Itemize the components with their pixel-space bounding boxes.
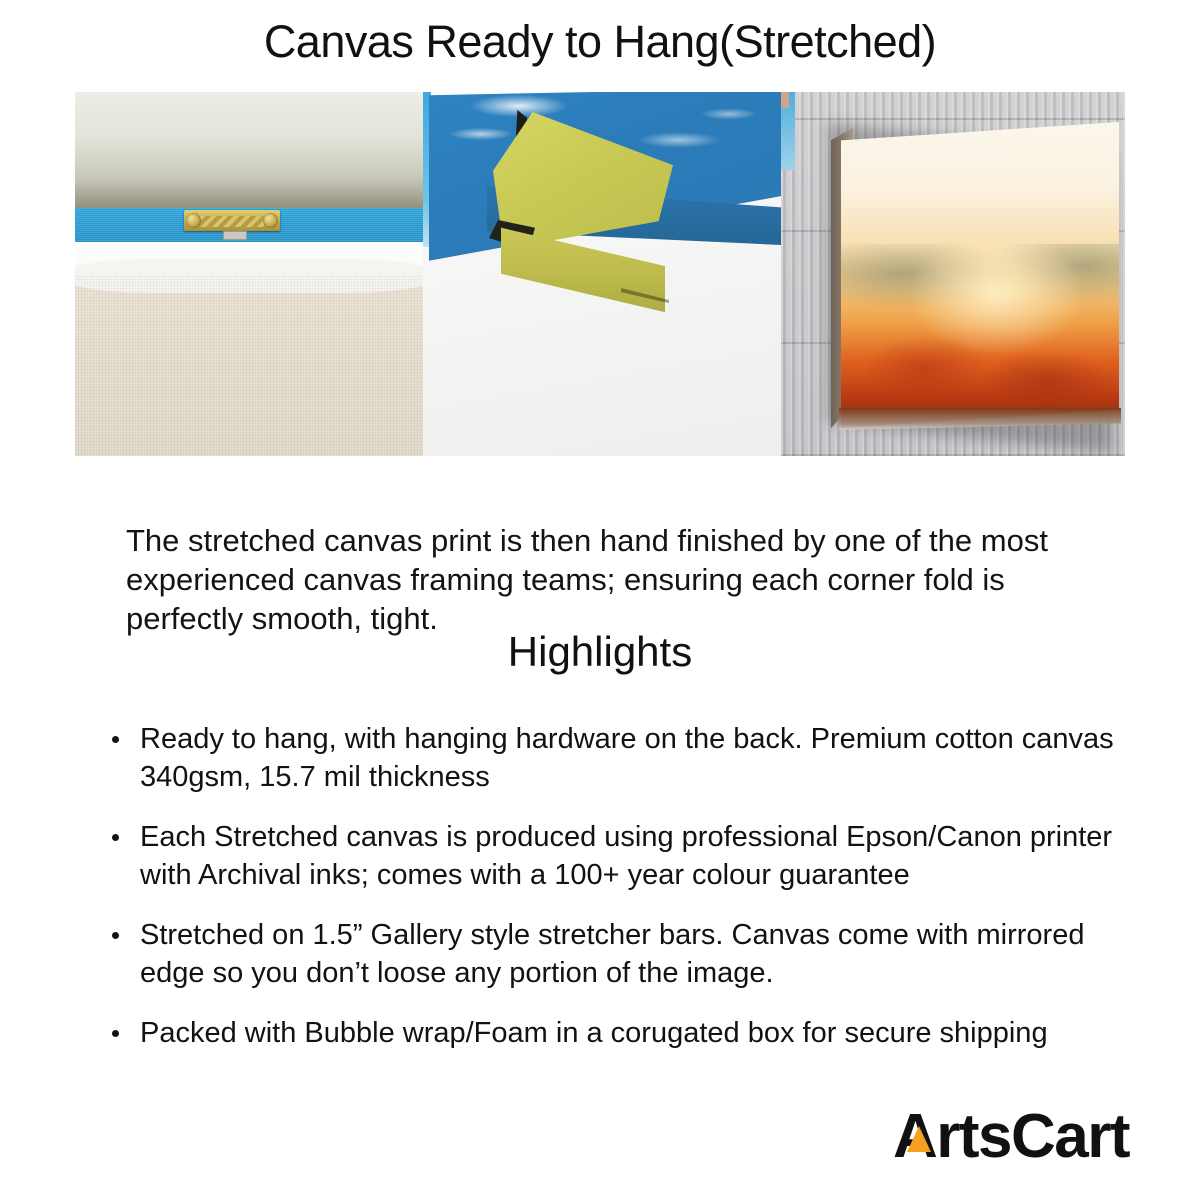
list-item: Each Stretched canvas is produced using …: [108, 818, 1118, 894]
canvas-raw-cotton-surface: [75, 275, 423, 456]
orange-triangle-icon: [907, 1126, 931, 1152]
hanger-teeth: [200, 216, 264, 227]
hung-canvas-sunset-print: [841, 122, 1119, 428]
brand-wordmark: ArtsCart: [893, 1106, 1129, 1168]
highlight-text: Packed with Bubble wrap/Foam in a coruga…: [140, 1017, 1048, 1049]
highlight-text: Stretched on 1.5” Gallery style stretche…: [140, 919, 1084, 989]
hanger-screw-right: [263, 213, 278, 228]
highlights-heading: Highlights: [0, 628, 1200, 676]
intro-paragraph: The stretched canvas print is then hand …: [126, 521, 1086, 638]
hanger-screw-left: [186, 213, 201, 228]
gallery-image-canvas-corner-fold: [423, 92, 781, 456]
gallery-image-canvas-on-wood-wall: [781, 92, 1125, 456]
page-title: Canvas Ready to Hang(Stretched): [0, 16, 1200, 68]
highlight-text: Each Stretched canvas is produced using …: [140, 821, 1112, 891]
bullet-dot-icon: [112, 736, 119, 743]
wall-left-tan-sliver: [781, 92, 789, 108]
list-item: Packed with Bubble wrap/Foam in a coruga…: [108, 1014, 1118, 1052]
highlight-text: Ready to hang, with hanging hardware on …: [140, 723, 1114, 793]
gallery-image-canvas-back-hanger: [75, 92, 423, 456]
brand-logo: ArtsCart: [893, 1100, 1129, 1174]
list-item: Stretched on 1.5” Gallery style stretche…: [108, 916, 1118, 992]
bullet-dot-icon: [112, 932, 119, 939]
bullet-dot-icon: [112, 1030, 119, 1037]
sawtooth-hanger-icon: [184, 210, 280, 231]
list-item: Ready to hang, with hanging hardware on …: [108, 720, 1118, 796]
bullet-dot-icon: [112, 834, 119, 841]
product-image-gallery: [75, 92, 1125, 456]
canvas-back-upper-surface: [75, 92, 423, 210]
highlights-list: Ready to hang, with hanging hardware on …: [108, 720, 1118, 1074]
hanger-wire-clip: [223, 231, 247, 240]
